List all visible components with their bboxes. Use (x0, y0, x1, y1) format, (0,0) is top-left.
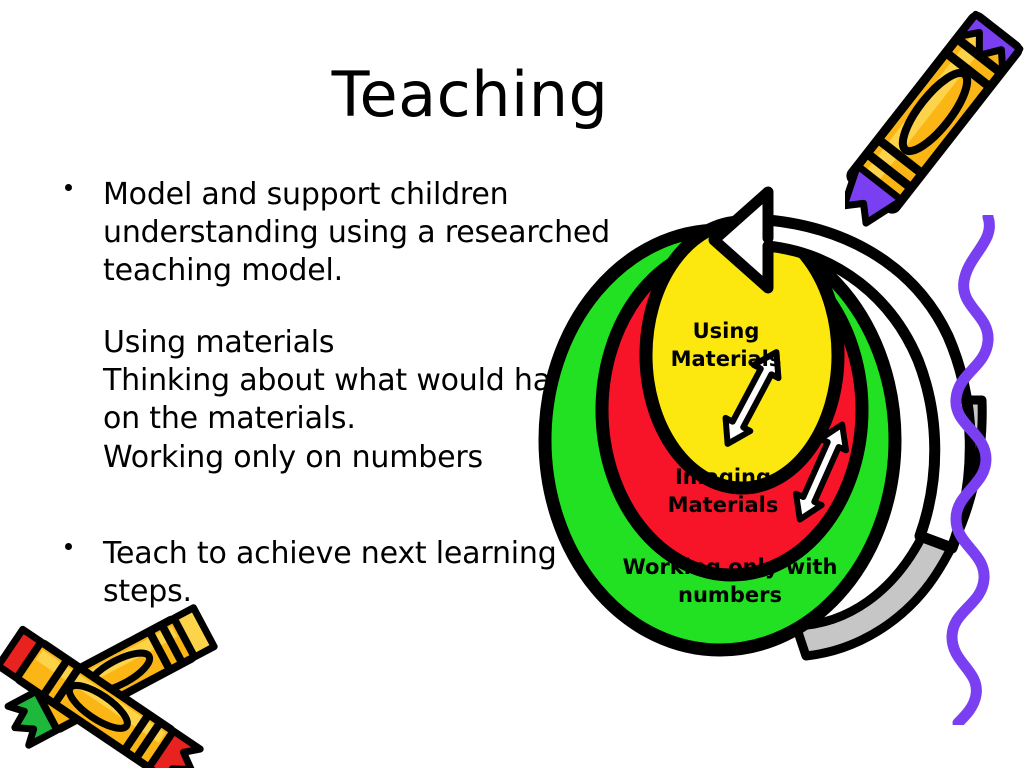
bullet-dot-icon (65, 184, 72, 191)
label-middle-line1: Imaging (675, 465, 771, 489)
label-inner-line2: Materials (671, 347, 782, 371)
crossed-crayons-icon (0, 598, 222, 768)
label-inner-line1: Using (693, 319, 760, 343)
label-outer-line1: Working only with (623, 555, 838, 579)
label-outer-line2: numbers (678, 583, 782, 607)
slide-canvas: Teaching Model and support children unde… (0, 0, 1024, 768)
page-title: Teaching (0, 62, 940, 127)
bullet-dot-icon (65, 543, 72, 550)
label-middle-line2: Materials (668, 493, 779, 517)
purple-crayon-squiggle-icon (944, 215, 1014, 729)
crayon-purple-tip-icon (845, 0, 1024, 246)
